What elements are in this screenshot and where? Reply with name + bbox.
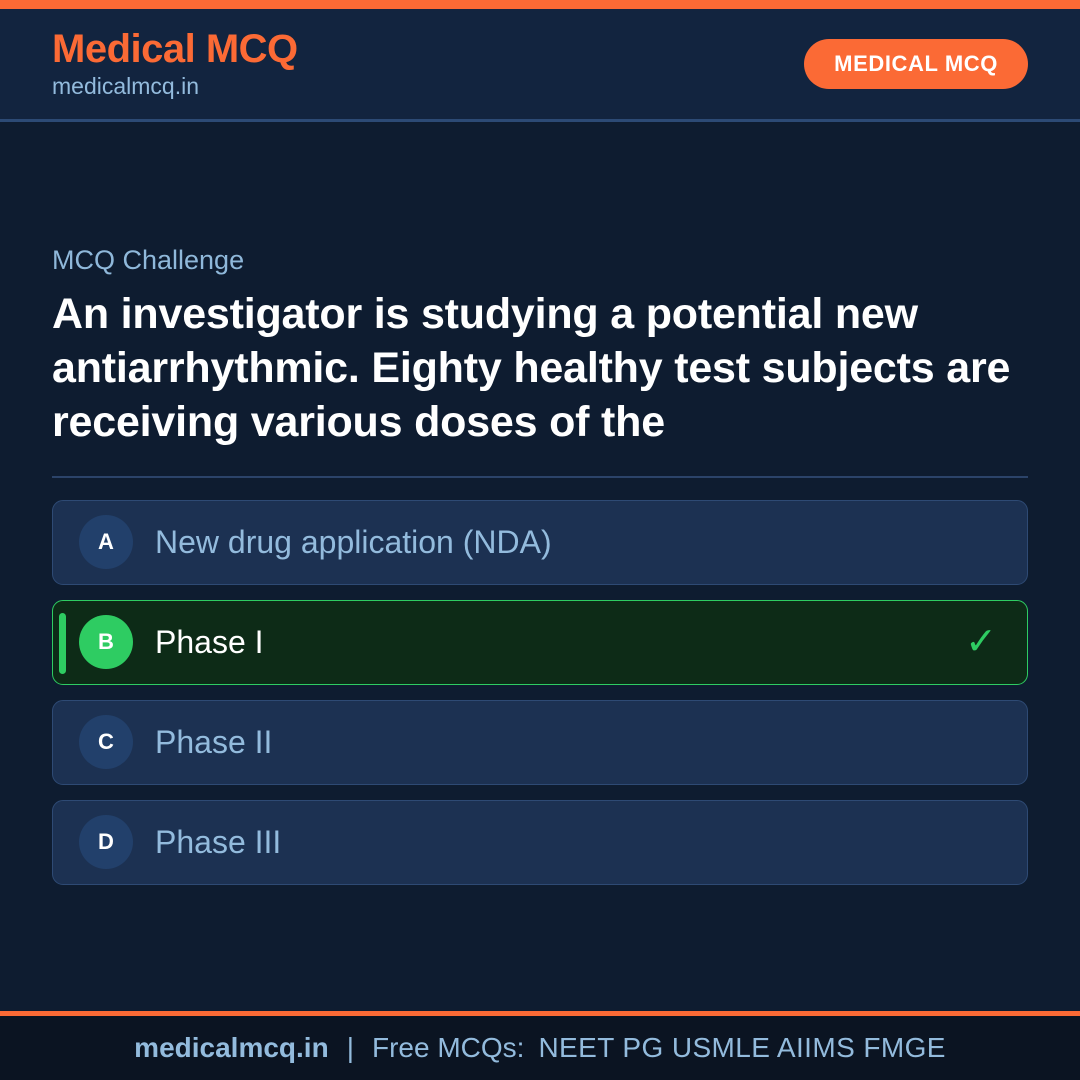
brand-block: Medical MCQ medicalmcq.in: [52, 28, 298, 100]
option-label: Phase II: [155, 723, 961, 761]
mcq-card: Medical MCQ medicalmcq.in MEDICAL MCQ MC…: [0, 0, 1080, 1080]
option-b[interactable]: B Phase I ✓: [52, 600, 1028, 685]
option-c[interactable]: C Phase II: [52, 700, 1028, 785]
question-area: MCQ Challenge An investigator is studyin…: [0, 122, 1080, 1011]
footer-text: medicalmcq.in | Free MCQs: NEET PG USMLE…: [134, 1032, 946, 1064]
option-letter-badge: D: [79, 815, 133, 869]
option-d[interactable]: D Phase III: [52, 800, 1028, 885]
brand-url: medicalmcq.in: [52, 73, 298, 99]
footer-bar: medicalmcq.in | Free MCQs: NEET PG USMLE…: [0, 1011, 1080, 1080]
correct-accent-bar: [59, 613, 66, 674]
option-label: New drug application (NDA): [155, 523, 961, 561]
question-text: An investigator is studying a potential …: [52, 288, 1028, 449]
option-a[interactable]: A New drug application (NDA): [52, 500, 1028, 585]
header-bar: Medical MCQ medicalmcq.in MEDICAL MCQ: [0, 9, 1080, 122]
option-label: Phase III: [155, 823, 961, 861]
footer-exams-label: Free MCQs:: [372, 1032, 524, 1064]
footer-site: medicalmcq.in: [134, 1032, 329, 1064]
option-label: Phase I: [155, 623, 961, 661]
brand-badge: MEDICAL MCQ: [804, 39, 1028, 89]
check-icon: ✓: [961, 623, 1001, 661]
question-divider: [52, 476, 1028, 478]
footer-exams: NEET PG USMLE AIIMS FMGE: [524, 1032, 945, 1064]
kicker-label: MCQ Challenge: [52, 244, 1028, 276]
option-letter-badge: A: [79, 515, 133, 569]
option-letter-badge: C: [79, 715, 133, 769]
options-list: A New drug application (NDA) B Phase I ✓…: [52, 500, 1028, 885]
brand-title: Medical MCQ: [52, 28, 298, 71]
top-accent-rule: [0, 0, 1080, 9]
option-letter-badge: B: [79, 615, 133, 669]
footer-separator: |: [329, 1032, 372, 1064]
